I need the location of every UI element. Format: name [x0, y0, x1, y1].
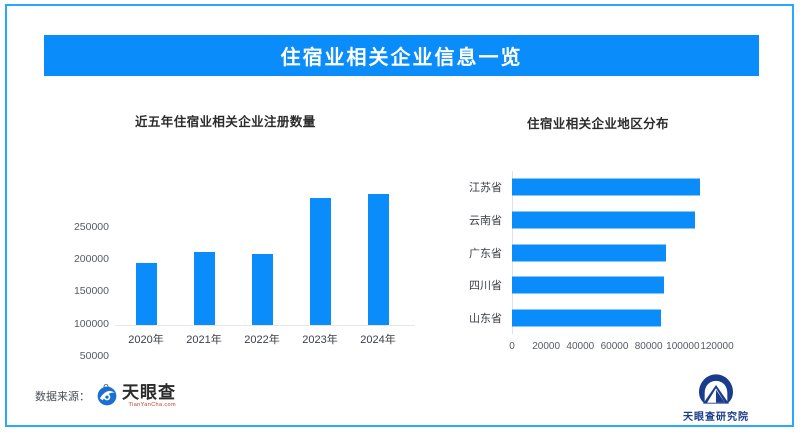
chart-title-right: 住宿业相关企业地区分布 — [527, 113, 669, 132]
footer-institute: 天眼查研究院 — [668, 372, 764, 423]
bar-四川省 — [512, 277, 664, 294]
x-tick-label: 20000 — [532, 341, 560, 352]
plot-area-left — [117, 164, 407, 325]
tianyancha-wordmark: 天眼查 TianYanCha.com — [122, 384, 176, 409]
x-axis-labels-left: 2020年2021年2022年2023年2024年 — [117, 331, 407, 351]
x-tick-label: 0 — [509, 341, 515, 352]
x-tick-label: 100000 — [666, 341, 699, 352]
bar-2021年 — [194, 252, 215, 325]
tianyancha-brand-text: 天眼查 — [122, 384, 176, 401]
y-tick-label: 50000 — [80, 350, 109, 362]
category-label: 云南省 — [469, 212, 502, 228]
category-label: 四川省 — [469, 277, 502, 293]
x-tick-label: 2023年 — [302, 331, 337, 347]
tianyancha-logo: 天眼查 TianYanCha.com — [96, 384, 176, 409]
chart-registrations-by-year: 近五年住宿业相关企业注册数量 0500001000001500002000002… — [47, 101, 427, 366]
bar-广东省 — [512, 244, 666, 261]
category-label: 山东省 — [469, 310, 502, 326]
y-axis-left: 050000100000150000200000250000 — [47, 164, 115, 325]
tianyancha-eye-icon — [96, 385, 118, 407]
page-title: 住宿业相关企业信息一览 — [281, 41, 523, 70]
bar-2024年 — [368, 194, 389, 325]
x-tick-label: 60000 — [601, 341, 629, 352]
x-tick-label: 80000 — [635, 341, 663, 352]
bar-2020年 — [136, 263, 157, 325]
y-tick-label: 250000 — [74, 221, 109, 233]
tianyancha-domain-text: TianYanCha.com — [122, 403, 176, 409]
bar-江苏省 — [512, 179, 700, 196]
x-axis-line-left — [115, 325, 415, 326]
x-tick-label: 120000 — [700, 341, 733, 352]
footer-source: 数据来源： 天眼查 TianYanCha.com — [35, 384, 176, 409]
bar-云南省 — [512, 211, 695, 228]
x-axis-labels-right: 020000400006000080000100000120000 — [512, 341, 742, 359]
y-tick-label: 100000 — [74, 318, 109, 330]
category-label: 广东省 — [469, 245, 502, 261]
category-label: 江苏省 — [469, 179, 502, 195]
chart-distribution-by-region: 住宿业相关企业地区分布 江苏省云南省广东省四川省山东省 020000400006… — [432, 101, 772, 366]
x-tick-label: 2020年 — [128, 331, 163, 347]
institute-logo-icon — [696, 372, 736, 406]
infographic-card: 住宿业相关企业信息一览 近五年住宿业相关企业注册数量 0500001000001… — [5, 4, 794, 427]
bar-2022年 — [252, 254, 273, 325]
plot-area-right: 江苏省云南省广东省四川省山东省 — [512, 171, 717, 334]
bar-山东省 — [512, 309, 661, 326]
x-tick-label: 2022年 — [244, 331, 279, 347]
x-tick-label: 2024年 — [360, 331, 395, 347]
page-title-banner: 住宿业相关企业信息一览 — [44, 35, 759, 76]
y-tick-label: 200000 — [74, 253, 109, 265]
institute-name: 天眼查研究院 — [683, 408, 749, 423]
y-tick-label: 150000 — [74, 285, 109, 297]
bar-2023年 — [310, 198, 331, 325]
chart-title-left: 近五年住宿业相关企业注册数量 — [135, 111, 316, 130]
x-tick-label: 2021年 — [186, 331, 221, 347]
x-tick-label: 40000 — [566, 341, 594, 352]
source-label: 数据来源： — [35, 388, 90, 404]
